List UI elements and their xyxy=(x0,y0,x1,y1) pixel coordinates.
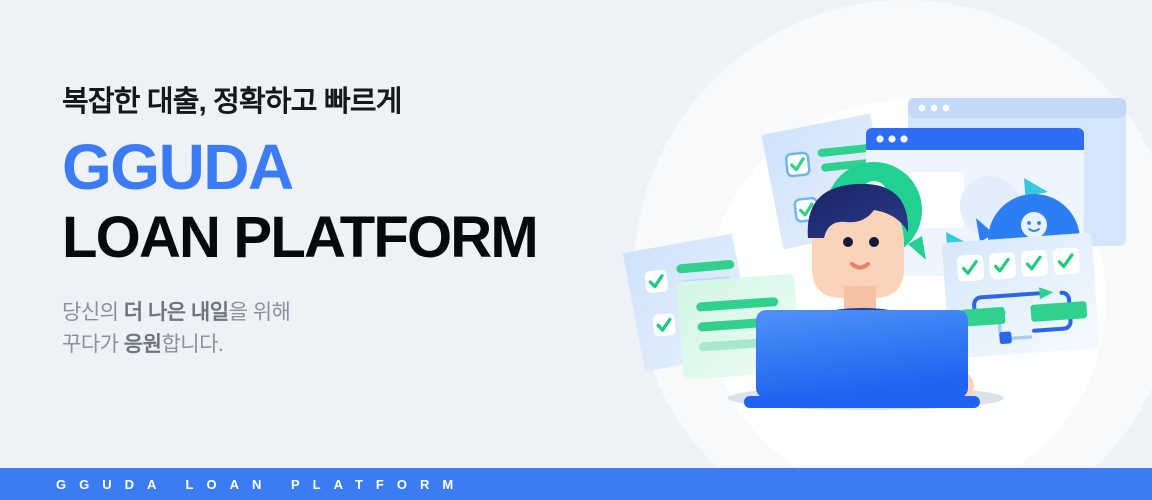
tagline-line1-post: 을 위해 xyxy=(229,301,291,324)
hero-tagline: 당신의 더 나은 내일을 위해 꾸다가 응원합니다. xyxy=(62,297,622,362)
hero-eyebrow: 복잡한 대출, 정확하고 빠르게 xyxy=(62,84,622,120)
tagline-line1-strong: 더 나은 내일 xyxy=(124,301,229,324)
hero-copy: 복잡한 대출, 정확하고 빠르게 GGUDA LOAN PLATFORM 당신의… xyxy=(62,84,622,362)
loan-platform-hero-illustration xyxy=(576,0,1152,468)
bottom-ribbon: GGUDA LOAN PLATFORM xyxy=(0,468,1152,500)
hero-banner: 복잡한 대출, 정확하고 빠르게 GGUDA LOAN PLATFORM 당신의… xyxy=(0,0,1152,500)
tagline-line1-pre: 당신의 xyxy=(62,301,124,324)
brand-name: GGUDA xyxy=(62,132,622,204)
tagline-line2-post: 합니다. xyxy=(161,333,223,356)
tagline-line-1: 당신의 더 나은 내일을 위해 xyxy=(62,297,622,330)
ribbon-text: GGUDA LOAN PLATFORM xyxy=(0,477,466,492)
tagline-line2-strong: 응원 xyxy=(124,333,162,356)
tagline-line-2: 꾸다가 응원합니다. xyxy=(62,329,622,362)
page-title: LOAN PLATFORM xyxy=(62,206,622,271)
tagline-line2-pre: 꾸다가 xyxy=(62,333,124,356)
